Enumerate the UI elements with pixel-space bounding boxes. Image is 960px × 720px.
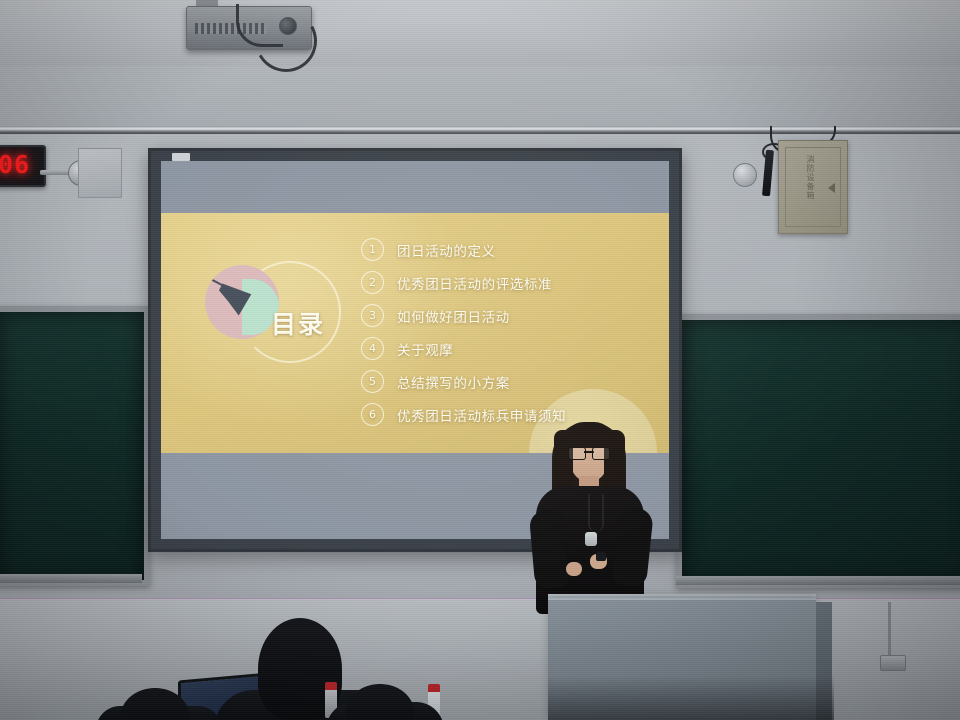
toc-item: 5 总结撰写的小方案 [361, 365, 655, 398]
chalk-tray-right [676, 576, 960, 585]
blackboard-left [0, 306, 150, 586]
wall-stand-box [880, 655, 906, 671]
glasses-lens-left [568, 447, 586, 460]
glasses-icon [568, 447, 610, 458]
lanyard [588, 494, 604, 532]
classroom-photo-scene: 06 消防设备箱 [0, 0, 960, 720]
toc-label: 总结撰写的小方案 [397, 372, 510, 392]
toc-label: 团日活动的定义 [397, 240, 496, 260]
slide-logo-group: 目录 [205, 261, 325, 369]
bird-beak-icon [210, 278, 230, 290]
toc-item: 1 团日活动的定义 [361, 233, 655, 266]
toc-label: 关于观摩 [397, 339, 453, 359]
presenter-arm-left [529, 509, 570, 590]
presenter-arm-right [612, 506, 654, 587]
chalk-tray-left [0, 574, 142, 583]
toc-number: 5 [361, 370, 384, 393]
sign-text: 消防设备箱 [801, 155, 815, 200]
wall-notice-box: 消防设备箱 [778, 140, 848, 234]
podium-shadow [548, 676, 834, 720]
blackboard-right [676, 314, 960, 588]
led-wall-clock: 06 [0, 145, 46, 187]
bottle-cap [428, 684, 440, 692]
upper-wall [0, 66, 960, 130]
toc-number: 1 [361, 238, 384, 261]
presenter [528, 414, 652, 614]
ceiling [0, 0, 960, 66]
screen-corner-tab [172, 153, 190, 161]
table-of-contents: 1 团日活动的定义 2 优秀团日活动的评选标准 3 如何做好团日活动 4 关于观… [361, 233, 655, 431]
toc-number: 4 [361, 337, 384, 360]
toc-label: 如何做好团日活动 [397, 306, 510, 326]
presenter-hand-left [566, 562, 582, 576]
clock-digits: 06 [0, 151, 30, 179]
presentation-clicker [596, 552, 606, 561]
bottle-cap [325, 682, 337, 690]
badge [585, 532, 597, 546]
wall-stand-pole [888, 602, 891, 662]
toc-item: 4 关于观摩 [361, 332, 655, 365]
toc-item: 2 优秀团日活动的评选标准 [361, 266, 655, 299]
toc-label: 优秀团日活动的评选标准 [397, 273, 552, 293]
glasses-lens-right [592, 447, 610, 460]
toc-number: 6 [361, 403, 384, 426]
wall-speaker [733, 163, 757, 187]
pie-chart-bird-logo [205, 265, 279, 339]
toc-number: 2 [361, 271, 384, 294]
arrow-icon [828, 183, 835, 193]
slide-title: 目录 [271, 305, 325, 341]
wall-plate [78, 148, 122, 198]
toc-number: 3 [361, 304, 384, 327]
toc-item: 3 如何做好团日活动 [361, 299, 655, 332]
